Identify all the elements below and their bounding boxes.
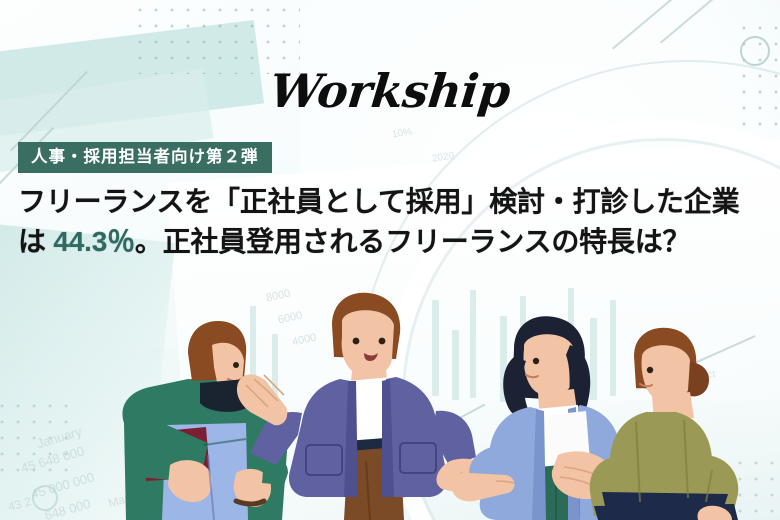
workship-banner: January45 648 00045 000 000648 00043 2Ma… [0, 0, 780, 520]
headline-suffix: 。正社員登用されるフリーランスの特長は？ [135, 226, 690, 257]
person-man-purple-blazer [236, 285, 476, 520]
headline-line-1: フリーランスを「正社員として採用」検討・打診した企業 [18, 182, 768, 222]
audience-badge: 人事・採用担当者向け第２弾 [18, 142, 272, 173]
headline-line-2: は 44.3％。正社員登用されるフリーランスの特長は？ [18, 222, 768, 262]
workship-logo: Workship [0, 64, 780, 118]
circle-outline-top-right [740, 36, 770, 66]
headline-accent-percentage: 44.3％ [53, 226, 135, 257]
headline: フリーランスを「正社員として採用」検討・打診した企業 は 44.3％。正社員登用… [18, 182, 768, 262]
person-woman-olive-sweater [588, 320, 778, 520]
headline-prefix: は [18, 226, 53, 257]
